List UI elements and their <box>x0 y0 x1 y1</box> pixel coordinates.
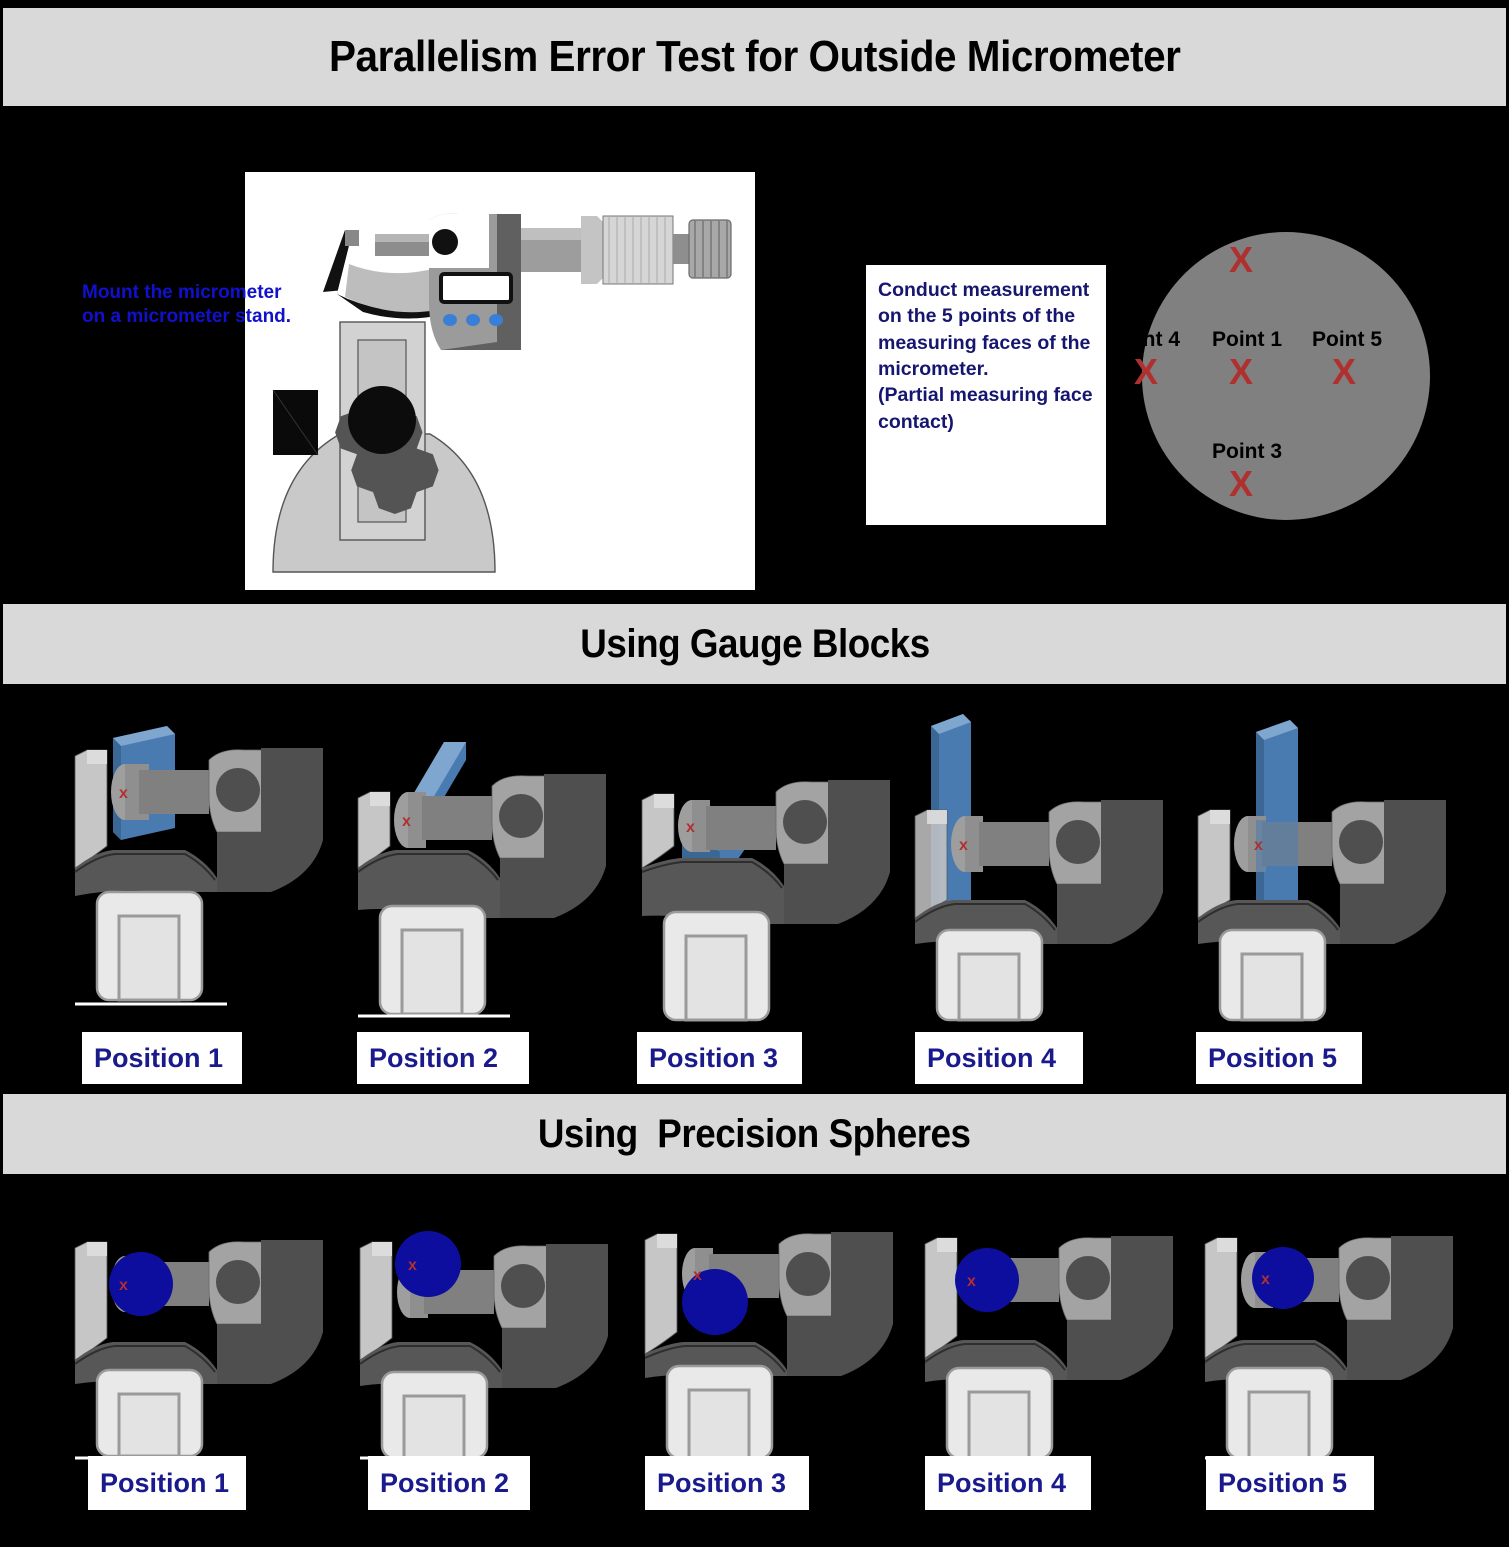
point-mark-5: X <box>1332 354 1356 390</box>
contact-mark-icon: x <box>686 819 695 836</box>
contact-mark-icon: x <box>119 785 128 802</box>
gauge-position-label-3: Position 3 <box>637 1032 802 1084</box>
point-label-4: Point 4 <box>1110 329 1180 350</box>
gauge-unit-3: x <box>642 720 912 1020</box>
page-title-band: Parallelism Error Test for Outside Micro… <box>3 8 1506 106</box>
gauge-blocks-section-heading: Using Gauge Blocks <box>3 604 1506 684</box>
point-label-1: Point 1 <box>1212 329 1282 350</box>
contact-mark-icon: x <box>1254 837 1263 854</box>
sphere-position-label-3: Position 3 <box>645 1456 809 1510</box>
precision-spheres-section-heading: Using Precision Spheres <box>3 1094 1506 1174</box>
precision-sphere-4 <box>955 1248 1019 1312</box>
sphere-position-label-1: Position 1 <box>88 1456 246 1510</box>
gauge-unit-5: x <box>1198 700 1468 1000</box>
sphere-position-label-4: Position 4 <box>925 1456 1091 1510</box>
contact-mark-icon: x <box>959 837 968 854</box>
precision-sphere-2 <box>395 1231 461 1297</box>
point-mark-1: X <box>1229 354 1253 390</box>
point-label-3: Point 3 <box>1212 441 1282 462</box>
gauge-blocks-heading-text: Using Gauge Blocks <box>580 622 930 667</box>
point-label-5: Point 5 <box>1312 329 1382 350</box>
measuring-face-diagram: X Point 4 X Point 1 X Point 5 X Point 3 … <box>1142 232 1430 520</box>
gauge-unit-1: x <box>75 720 345 1020</box>
conduct-measurement-note-box: Conduct measurement on the 5 points of t… <box>866 265 1106 525</box>
page-title: Parallelism Error Test for Outside Micro… <box>329 32 1180 82</box>
contact-mark-icon: x <box>1261 1271 1270 1288</box>
gauge-unit-2: x <box>358 720 628 1020</box>
gauge-position-label-2: Position 2 <box>357 1032 529 1084</box>
contact-mark-icon: x <box>967 1273 976 1290</box>
micrometer-on-stand-illustration <box>245 172 755 590</box>
gauge-position-label-1: Position 1 <box>82 1032 242 1084</box>
gauge-position-label-4: Position 4 <box>915 1032 1083 1084</box>
point-mark-3: X <box>1229 466 1253 502</box>
gauge-position-label-5: Position 5 <box>1196 1032 1362 1084</box>
gauge-unit-4: x <box>915 700 1185 1000</box>
precision-spheres-heading-text: Using Precision Spheres <box>538 1112 971 1157</box>
contact-mark-icon: x <box>693 1267 702 1284</box>
contact-mark-icon: x <box>402 813 411 830</box>
sphere-position-label-5: Position 5 <box>1206 1456 1374 1510</box>
contact-mark-icon: x <box>119 1277 128 1294</box>
point-mark-4: X <box>1134 354 1158 390</box>
sphere-position-label-2: Position 2 <box>368 1456 530 1510</box>
point-mark-2: X <box>1229 242 1253 278</box>
precision-sphere-3 <box>682 1269 748 1335</box>
contact-mark-icon: x <box>408 1257 417 1274</box>
conduct-measurement-text: Conduct measurement on the 5 points of t… <box>878 277 1094 435</box>
mount-instruction-note: Mount the micrometer on a micrometer sta… <box>82 281 322 330</box>
